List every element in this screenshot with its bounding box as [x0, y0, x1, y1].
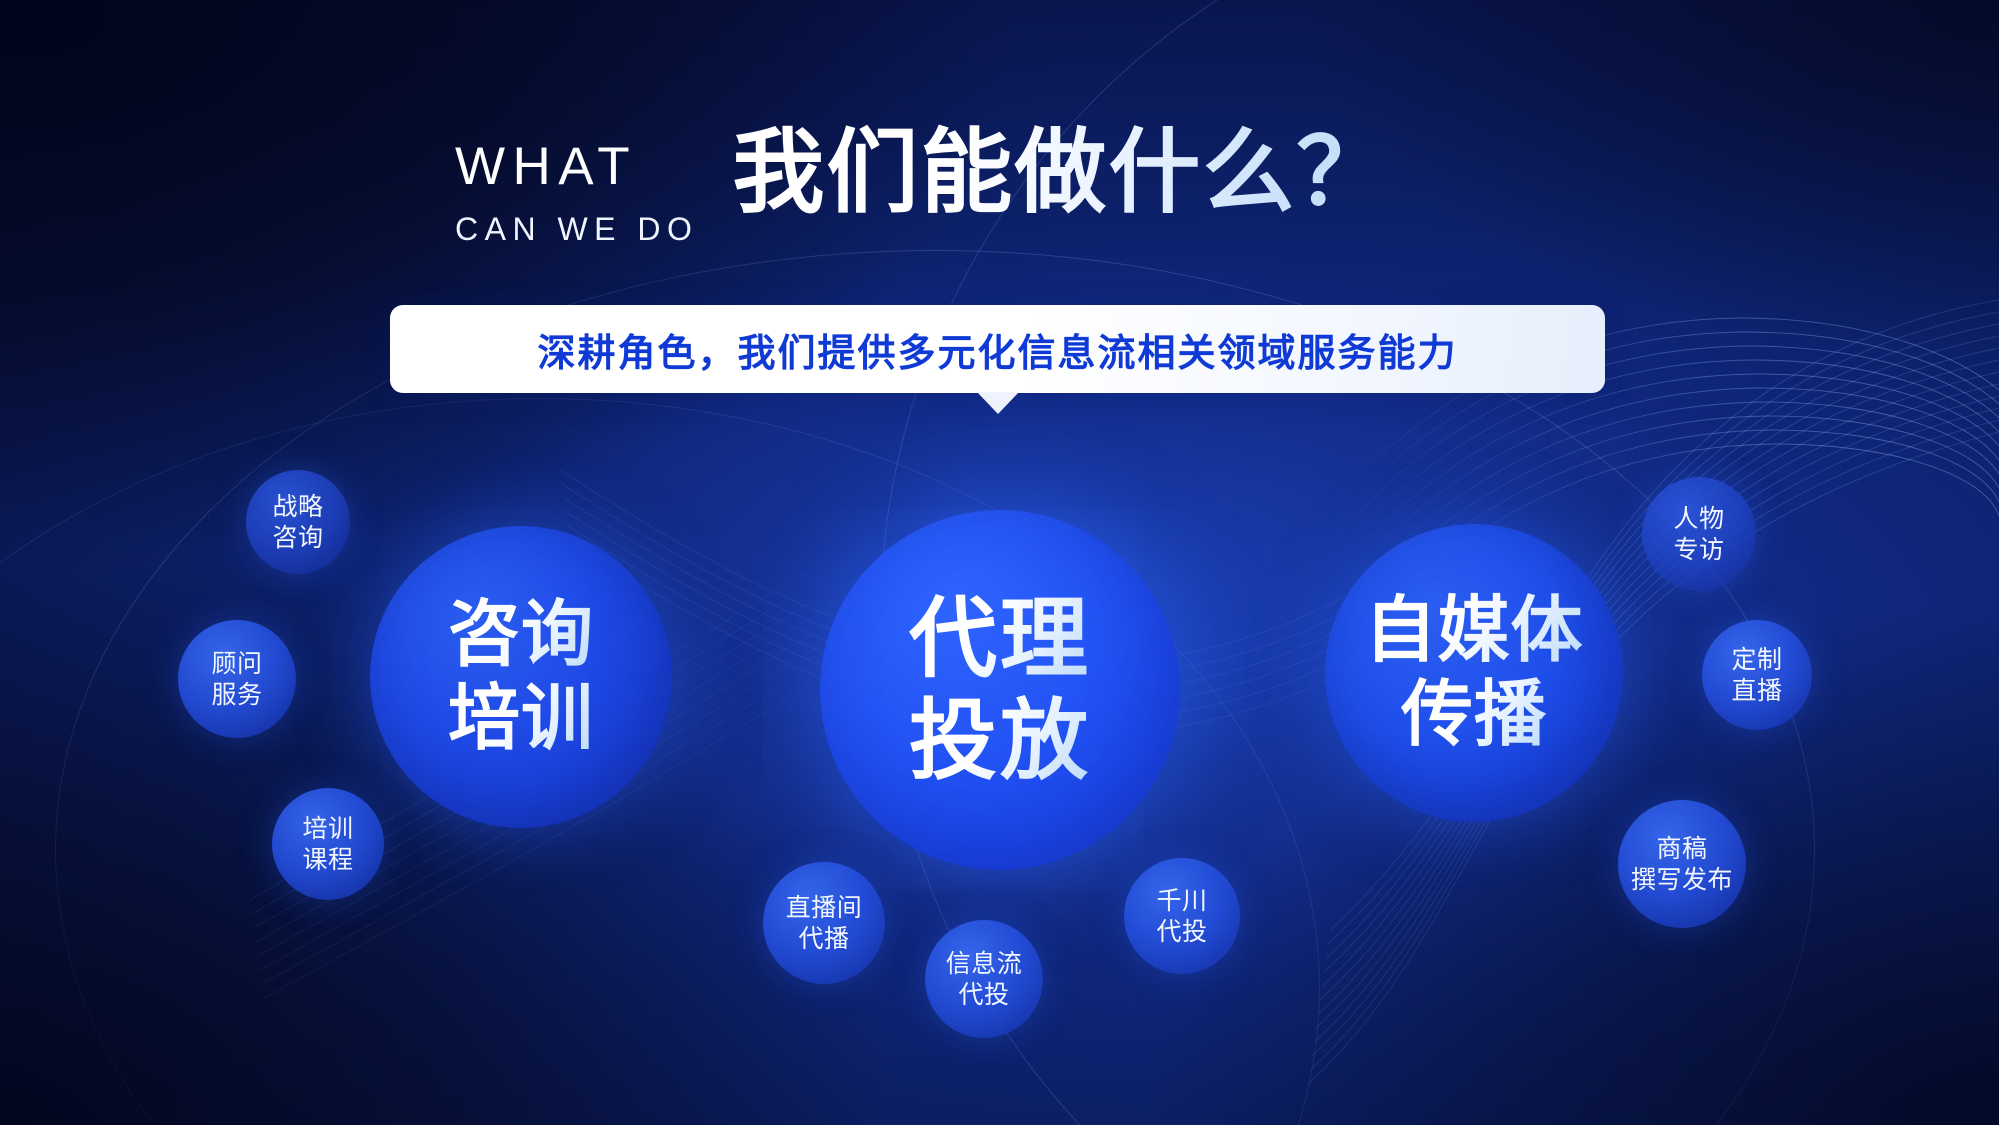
bubble-line-2: 撰写发布: [1631, 864, 1733, 895]
bubble-person-interview[interactable]: 人物 专访: [1642, 477, 1756, 591]
subtitle-bar: 深耕角色，我们提供多元化信息流相关领域服务能力: [390, 305, 1605, 393]
bubble-line-2: 直播: [1731, 675, 1782, 706]
bubble-line-1: 战略: [272, 491, 323, 522]
bubble-line-1: 千川: [1156, 885, 1207, 916]
bubble-line-2: 专访: [1673, 534, 1724, 565]
main-circle-line-2: 投放: [909, 690, 1091, 792]
heading-what: WHAT: [455, 140, 698, 193]
bubble-line-1: 顾问: [211, 648, 262, 679]
bubble-line-1: 定制: [1731, 644, 1782, 675]
bubble-line-2: 代投: [958, 979, 1009, 1010]
bubble-line-2: 代投: [1156, 916, 1207, 947]
bubble-line-1: 直播间: [786, 892, 863, 923]
bubble-strategy-consulting[interactable]: 战略 咨询: [246, 470, 350, 574]
subtitle-text: 深耕角色，我们提供多元化信息流相关领域服务能力: [537, 322, 1457, 377]
bubble-line-1: 培训: [302, 813, 353, 844]
bubble-training-course[interactable]: 培训 课程: [272, 788, 384, 900]
bubble-line-1: 信息流: [946, 948, 1023, 979]
bubble-article-writing-publishing[interactable]: 商稿 撰写发布: [1618, 800, 1746, 928]
main-circle-line-1: 代理: [909, 588, 1091, 690]
bubble-custom-livestream[interactable]: 定制 直播: [1702, 620, 1812, 730]
bubble-line-2: 咨询: [272, 522, 323, 553]
subtitle-banner: 深耕角色，我们提供多元化信息流相关领域服务能力: [390, 305, 1605, 393]
main-circle-line-2: 培训: [448, 677, 594, 761]
main-circle-line-1: 咨询: [448, 593, 594, 677]
main-circle-self-media-distribution[interactable]: 自媒体 传播: [1325, 524, 1623, 822]
bubble-line-2: 服务: [211, 679, 262, 710]
subtitle-pointer-icon: [977, 392, 1019, 414]
bubble-livestream-hosting[interactable]: 直播间 代播: [763, 862, 885, 984]
english-heading: WHAT CAN WE DO: [455, 124, 698, 245]
bubble-line-2: 课程: [302, 844, 353, 875]
bubble-line-2: 代播: [798, 923, 849, 954]
bubble-feed-ads-placement[interactable]: 信息流 代投: [925, 920, 1043, 1038]
heading-can-we-do: CAN WE DO: [455, 213, 698, 245]
bubble-line-1: 商稿: [1656, 833, 1707, 864]
main-circle-line-1: 自媒体: [1364, 589, 1583, 673]
bubble-line-1: 人物: [1673, 503, 1724, 534]
main-circle-agency-placement[interactable]: 代理 投放: [820, 510, 1180, 870]
main-circle-line-2: 传播: [1401, 673, 1547, 757]
slide-canvas: WHAT CAN WE DO 我们能做什么？ 深耕角色，我们提供多元化信息流相关…: [0, 0, 1999, 1125]
page-title: 我们能做什么？: [732, 124, 1390, 222]
title-row: WHAT CAN WE DO 我们能做什么？: [455, 124, 1390, 245]
bubble-qianchuan-placement[interactable]: 千川 代投: [1124, 858, 1240, 974]
bubble-advisory-service[interactable]: 顾问 服务: [178, 620, 296, 738]
main-circle-consulting-training[interactable]: 咨询 培训: [370, 526, 672, 828]
